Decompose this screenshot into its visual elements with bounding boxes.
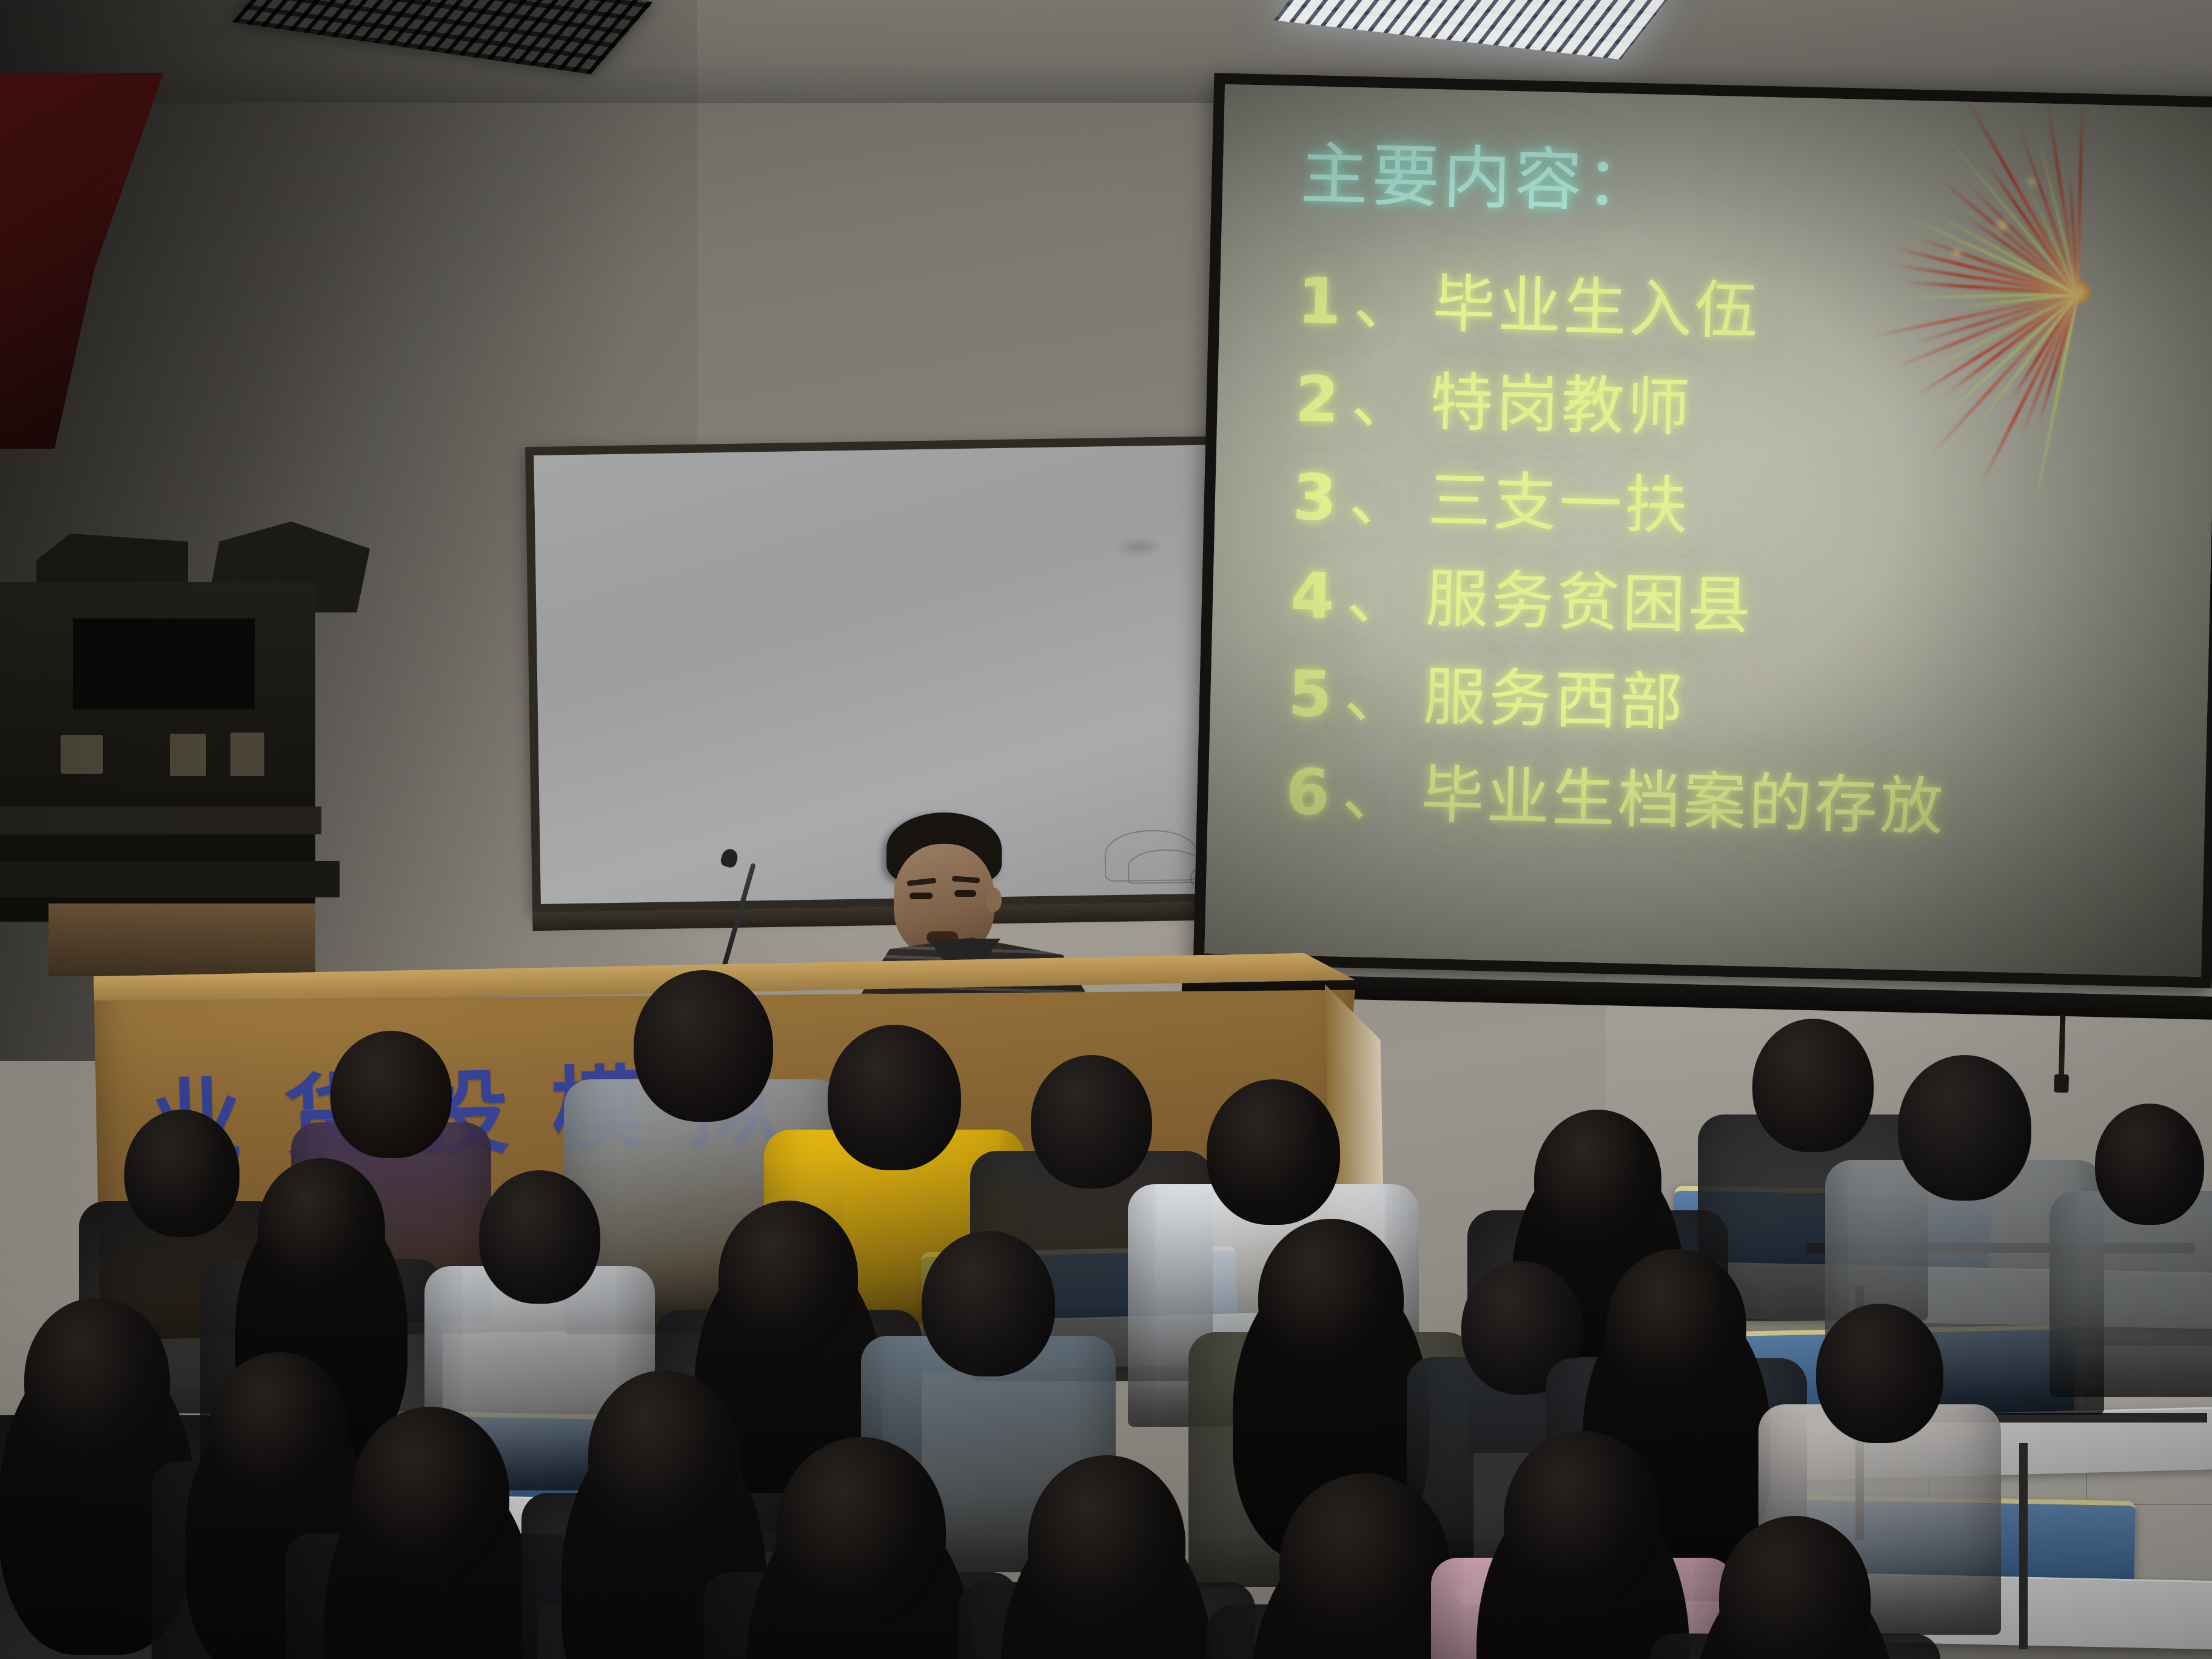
- slide-bullet-item: 2、特岗教师: [1295, 367, 2212, 452]
- audience-person-head: [1258, 1219, 1404, 1376]
- audience-person-head: [479, 1170, 600, 1304]
- lecture-hall-photo: 主要内容： 1、毕业生入伍2、特岗教师3、三支一扶4、服务贫困县5、服务西部6、…: [0, 0, 2212, 1659]
- slide-bullet-list: 1、毕业生入伍2、特岗教师3、三支一扶4、服务贫困县5、服务西部6、毕业生档案的…: [1285, 269, 2212, 844]
- slide-bullet-text: 毕业生入伍: [1432, 272, 1761, 343]
- audience-person-head: [1504, 1431, 1661, 1607]
- audience-person-head: [1028, 1455, 1185, 1631]
- audience-person-head: [2095, 1104, 2204, 1225]
- audience-person-head: [776, 1437, 946, 1625]
- slide-bullet-text: 服务贫困县: [1425, 566, 1754, 637]
- speaker-ear: [986, 888, 1002, 912]
- audience-person-head: [1207, 1079, 1340, 1225]
- slide-bullet-text: 三支一扶: [1427, 469, 1691, 538]
- audience-person-head: [828, 1025, 961, 1170]
- slide-bullet-item: 3、三支一扶: [1292, 465, 2212, 550]
- audience-person-head: [24, 1298, 170, 1461]
- audience-person-head: [1719, 1516, 1871, 1659]
- slide-bullet-separator: 、: [1350, 368, 1418, 433]
- speaker-eye: [954, 890, 976, 897]
- slide-bullet-text: 特岗教师: [1429, 370, 1693, 440]
- wooden-base: [49, 903, 315, 976]
- audience-person-head: [634, 970, 773, 1122]
- audience-person-head: [258, 1158, 385, 1298]
- desk-frame-rail: [2019, 1443, 2028, 1649]
- slide-bullet-item: 1、毕业生入伍: [1297, 269, 2212, 354]
- presentation-slide: 主要内容： 1、毕业生入伍2、特岗教师3、三支一扶4、服务贫困县5、服务西部6、…: [1204, 84, 2212, 977]
- screen-frame: 主要内容： 1、毕业生入伍2、特岗教师3、三支一扶4、服务贫困县5、服务西部6、…: [1193, 73, 2212, 988]
- slide-bullet-item: 4、服务贫困县: [1290, 563, 2210, 648]
- audience-person-head: [1279, 1473, 1449, 1655]
- screen-surface: 主要内容： 1、毕业生入伍2、特岗教师3、三支一扶4、服务贫困县5、服务西部6、…: [1204, 84, 2212, 977]
- audience-person-head: [922, 1231, 1055, 1376]
- audience-person-head: [1898, 1055, 2031, 1201]
- slide-bullet-number: 3: [1292, 465, 1340, 529]
- slide-bullet-number: 5: [1287, 662, 1335, 726]
- audience-person-head: [719, 1201, 858, 1352]
- slide-bullet-number: 4: [1290, 563, 1338, 628]
- whiteboard-smudge: [1114, 537, 1163, 558]
- slide-bullet-item: 6、毕业生档案的存放: [1285, 760, 2205, 845]
- equipment-shelf-lower: [0, 861, 340, 897]
- slide-bullet-item: 5、服务西部: [1287, 662, 2208, 746]
- slide-bullet-text: 服务西部: [1423, 665, 1686, 734]
- slide-bullet-text: 毕业生档案的存放: [1420, 763, 1946, 838]
- projection-screen: 主要内容： 1、毕业生入伍2、特岗教师3、三支一扶4、服务贫困县5、服务西部6、…: [1193, 73, 2212, 988]
- slide-bullet-number: 6: [1285, 760, 1333, 824]
- slide-bullet-number: 1: [1297, 269, 1345, 333]
- equipment-shelf-upper: [0, 806, 321, 834]
- slide-title: 主要内容：: [1299, 139, 2212, 232]
- slide-bullet-separator: 、: [1348, 466, 1415, 531]
- audience-person: [1649, 1516, 1940, 1659]
- slide-bullet-separator: 、: [1344, 663, 1411, 728]
- slide-bullet-separator: 、: [1353, 270, 1420, 335]
- audience-person-head: [1816, 1304, 1943, 1443]
- audience-person-head: [352, 1407, 509, 1583]
- audience-person-head: [330, 1031, 452, 1158]
- audience-person-head: [1607, 1249, 1746, 1401]
- audience-person: [2049, 1104, 2212, 1431]
- audience-person-head: [1534, 1110, 1661, 1249]
- slide-bullet-separator: 、: [1341, 761, 1409, 826]
- speaker-eye: [910, 893, 933, 899]
- slide-bullet-separator: 、: [1346, 565, 1413, 629]
- slide-bullet-number: 2: [1295, 367, 1342, 431]
